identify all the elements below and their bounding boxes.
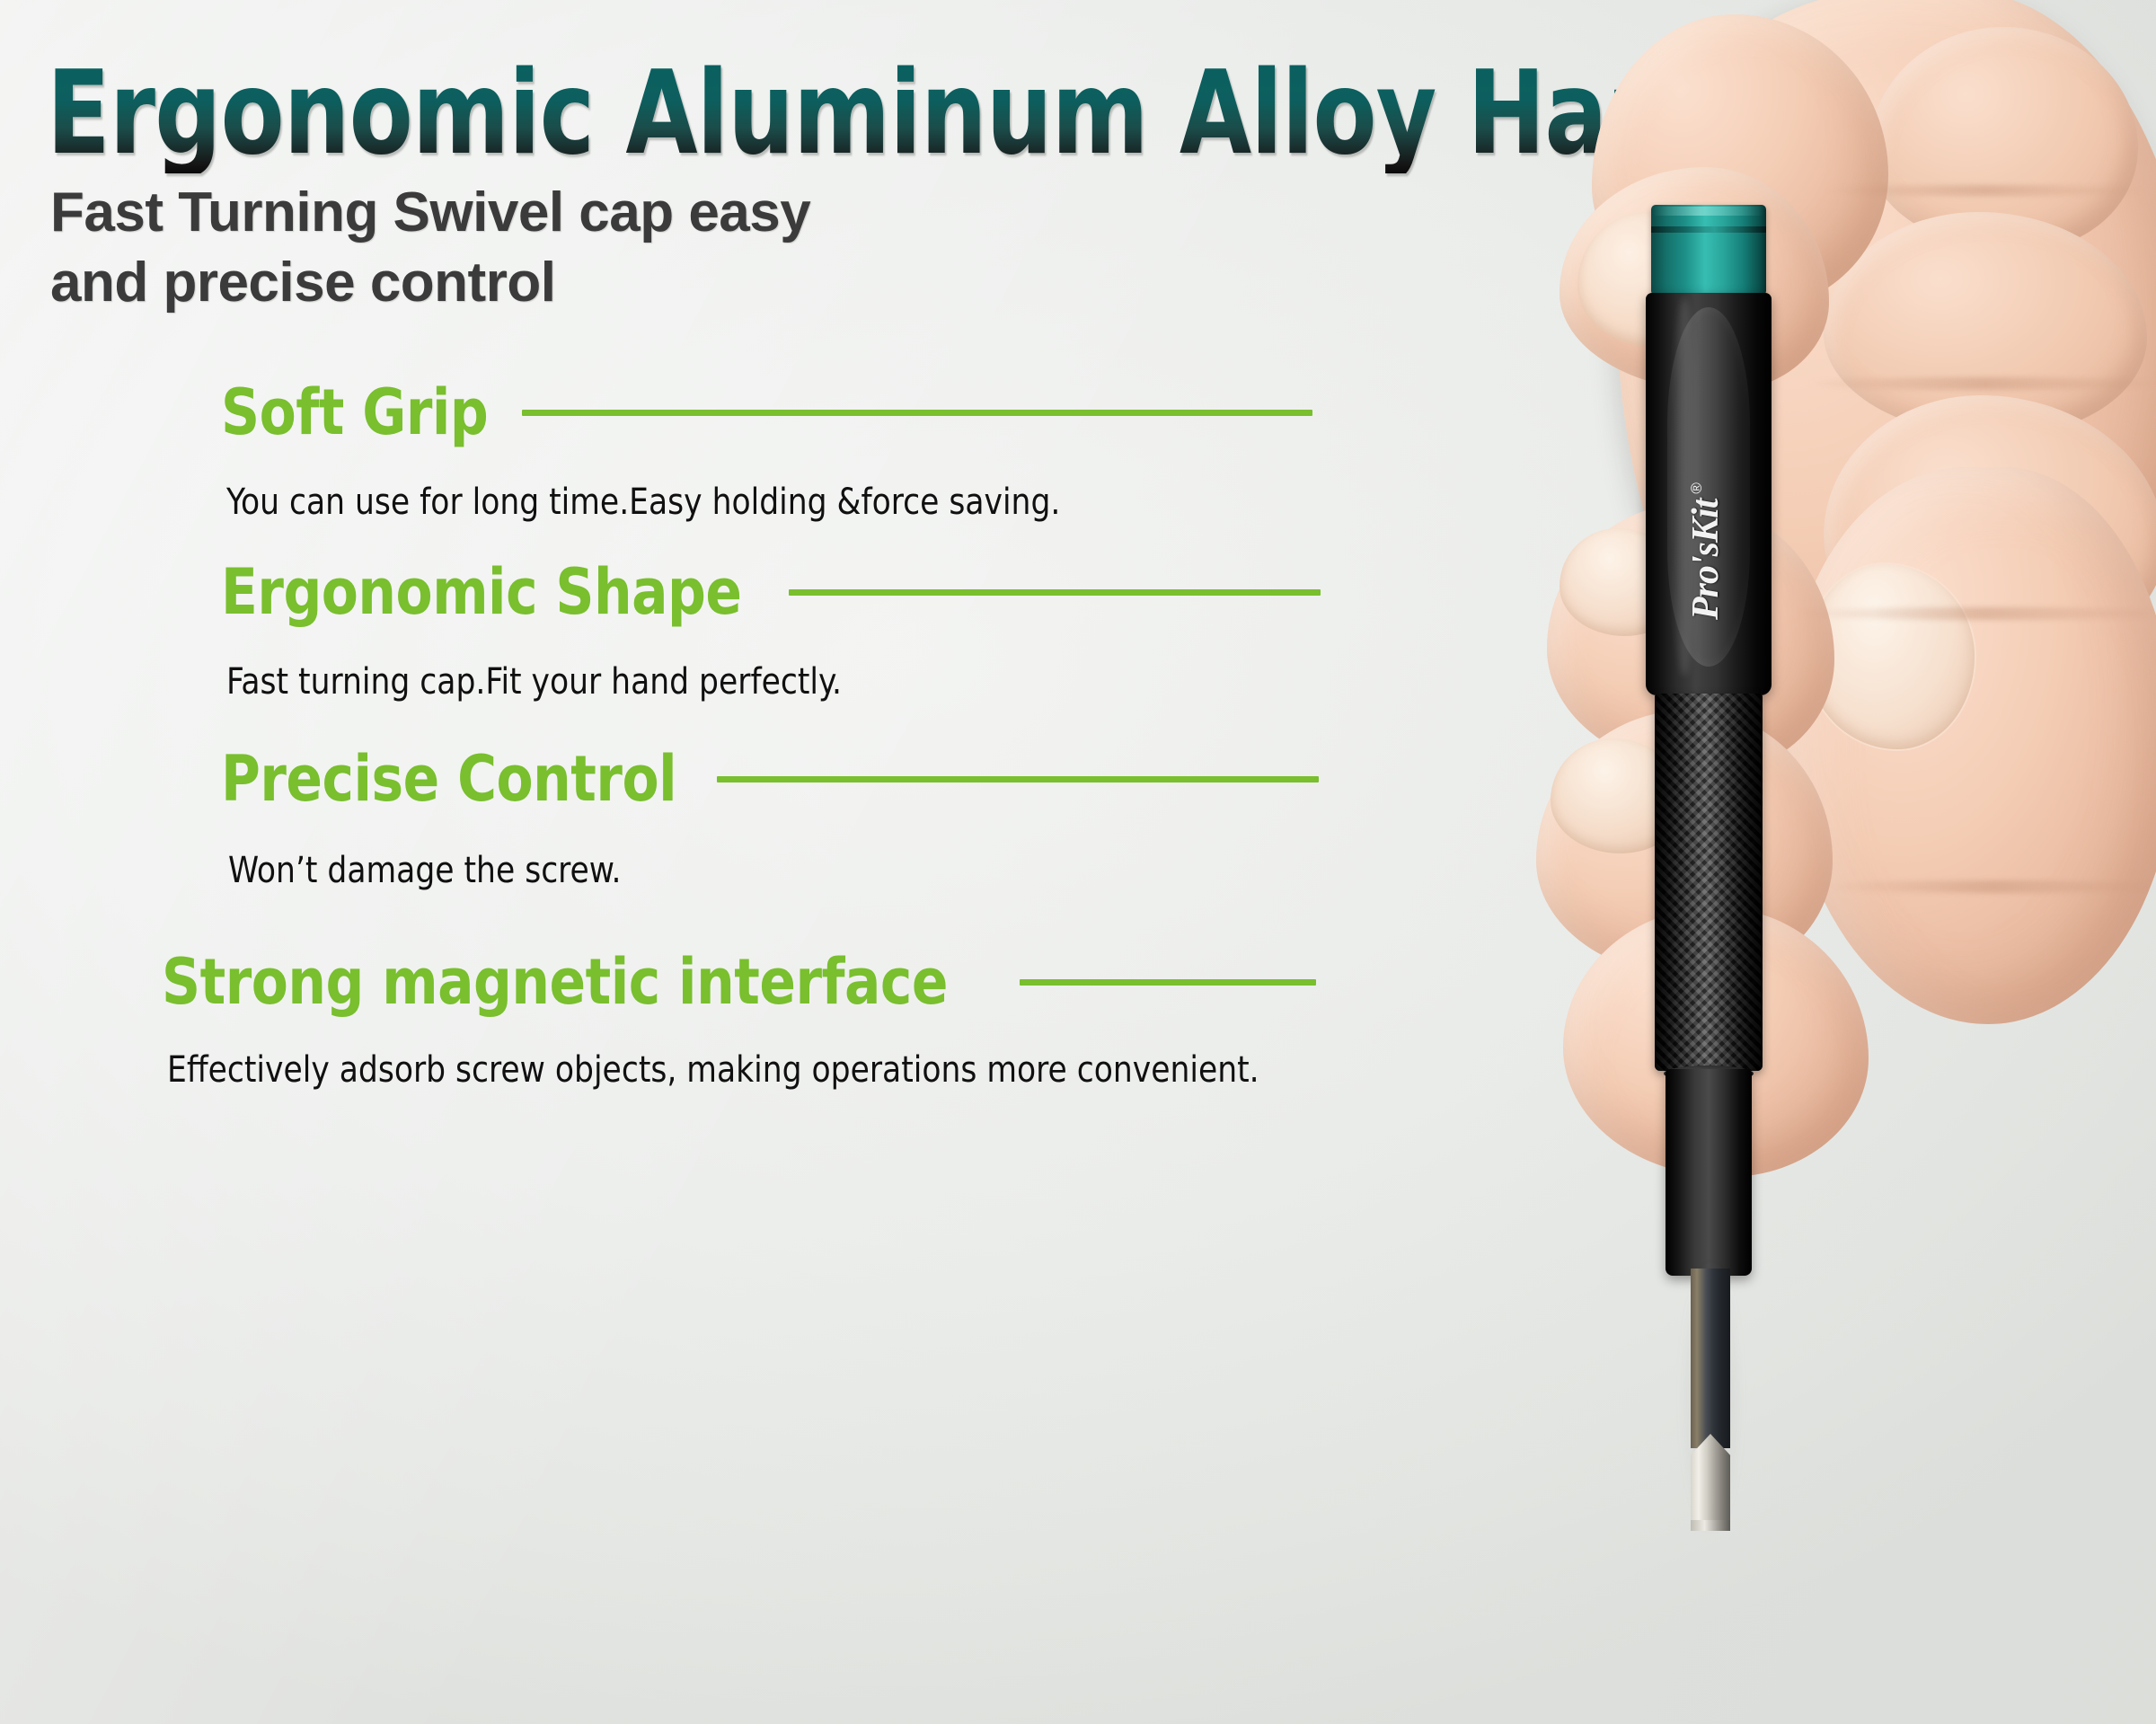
feature-heading-row: Precise Control xyxy=(221,747,1319,810)
infographic-canvas: Ergonomic Aluminum Alloy Handle Fast Tur… xyxy=(0,0,2156,1724)
swivel-cap-groove xyxy=(1651,226,1766,233)
feature-heading-row: Soft Grip xyxy=(221,381,1312,444)
feature-title: Soft Grip xyxy=(221,381,488,444)
feature-description: Effectively adsorb screw objects, making… xyxy=(167,1049,1270,1091)
feature-callout-soft-grip: Soft Grip You can use for long time.Easy… xyxy=(221,381,1312,523)
page-subtitle: Fast Turning Swivel cap easy and precise… xyxy=(50,178,810,318)
product-photo: Pro'sKit ® xyxy=(1401,0,2156,1724)
feature-heading-row: Strong magnetic interface xyxy=(162,950,1316,1013)
feature-description: You can use for long time.Easy holding &… xyxy=(226,482,1269,523)
feature-connector-line xyxy=(789,589,1321,596)
feature-description: Fast turning cap.Fit your hand perfectly… xyxy=(226,661,1277,703)
screwdriver: Pro'sKit ® xyxy=(1401,0,2156,1724)
feature-callout-strong-magnetic-interface: Strong magnetic interface Effectively ad… xyxy=(162,950,1316,1091)
swivel-cap-highlight xyxy=(1653,207,1764,216)
flathead-tip xyxy=(1691,1434,1730,1531)
knurled-shaft xyxy=(1655,694,1763,1071)
flathead-tip-edge xyxy=(1691,1520,1730,1531)
feature-callout-ergonomic-shape: Ergonomic Shape Fast turning cap.Fit you… xyxy=(221,561,1321,703)
feature-connector-line xyxy=(717,776,1319,782)
feature-heading-row: Ergonomic Shape xyxy=(221,561,1321,623)
feature-callout-precise-control: Precise Control Won’t damage the screw. xyxy=(221,747,1319,891)
bit-shank xyxy=(1691,1269,1730,1448)
swivel-cap xyxy=(1651,205,1766,295)
feature-description: Won’t damage the screw. xyxy=(228,850,1275,891)
feature-connector-line xyxy=(1020,979,1316,986)
feature-title: Ergonomic Shape xyxy=(221,561,742,623)
feature-title: Precise Control xyxy=(221,747,676,810)
feature-title: Strong magnetic interface xyxy=(162,950,948,1013)
feature-connector-line xyxy=(522,410,1312,416)
soft-grip-insert-panel xyxy=(1667,307,1750,667)
magnetic-ferrule xyxy=(1666,1069,1752,1276)
